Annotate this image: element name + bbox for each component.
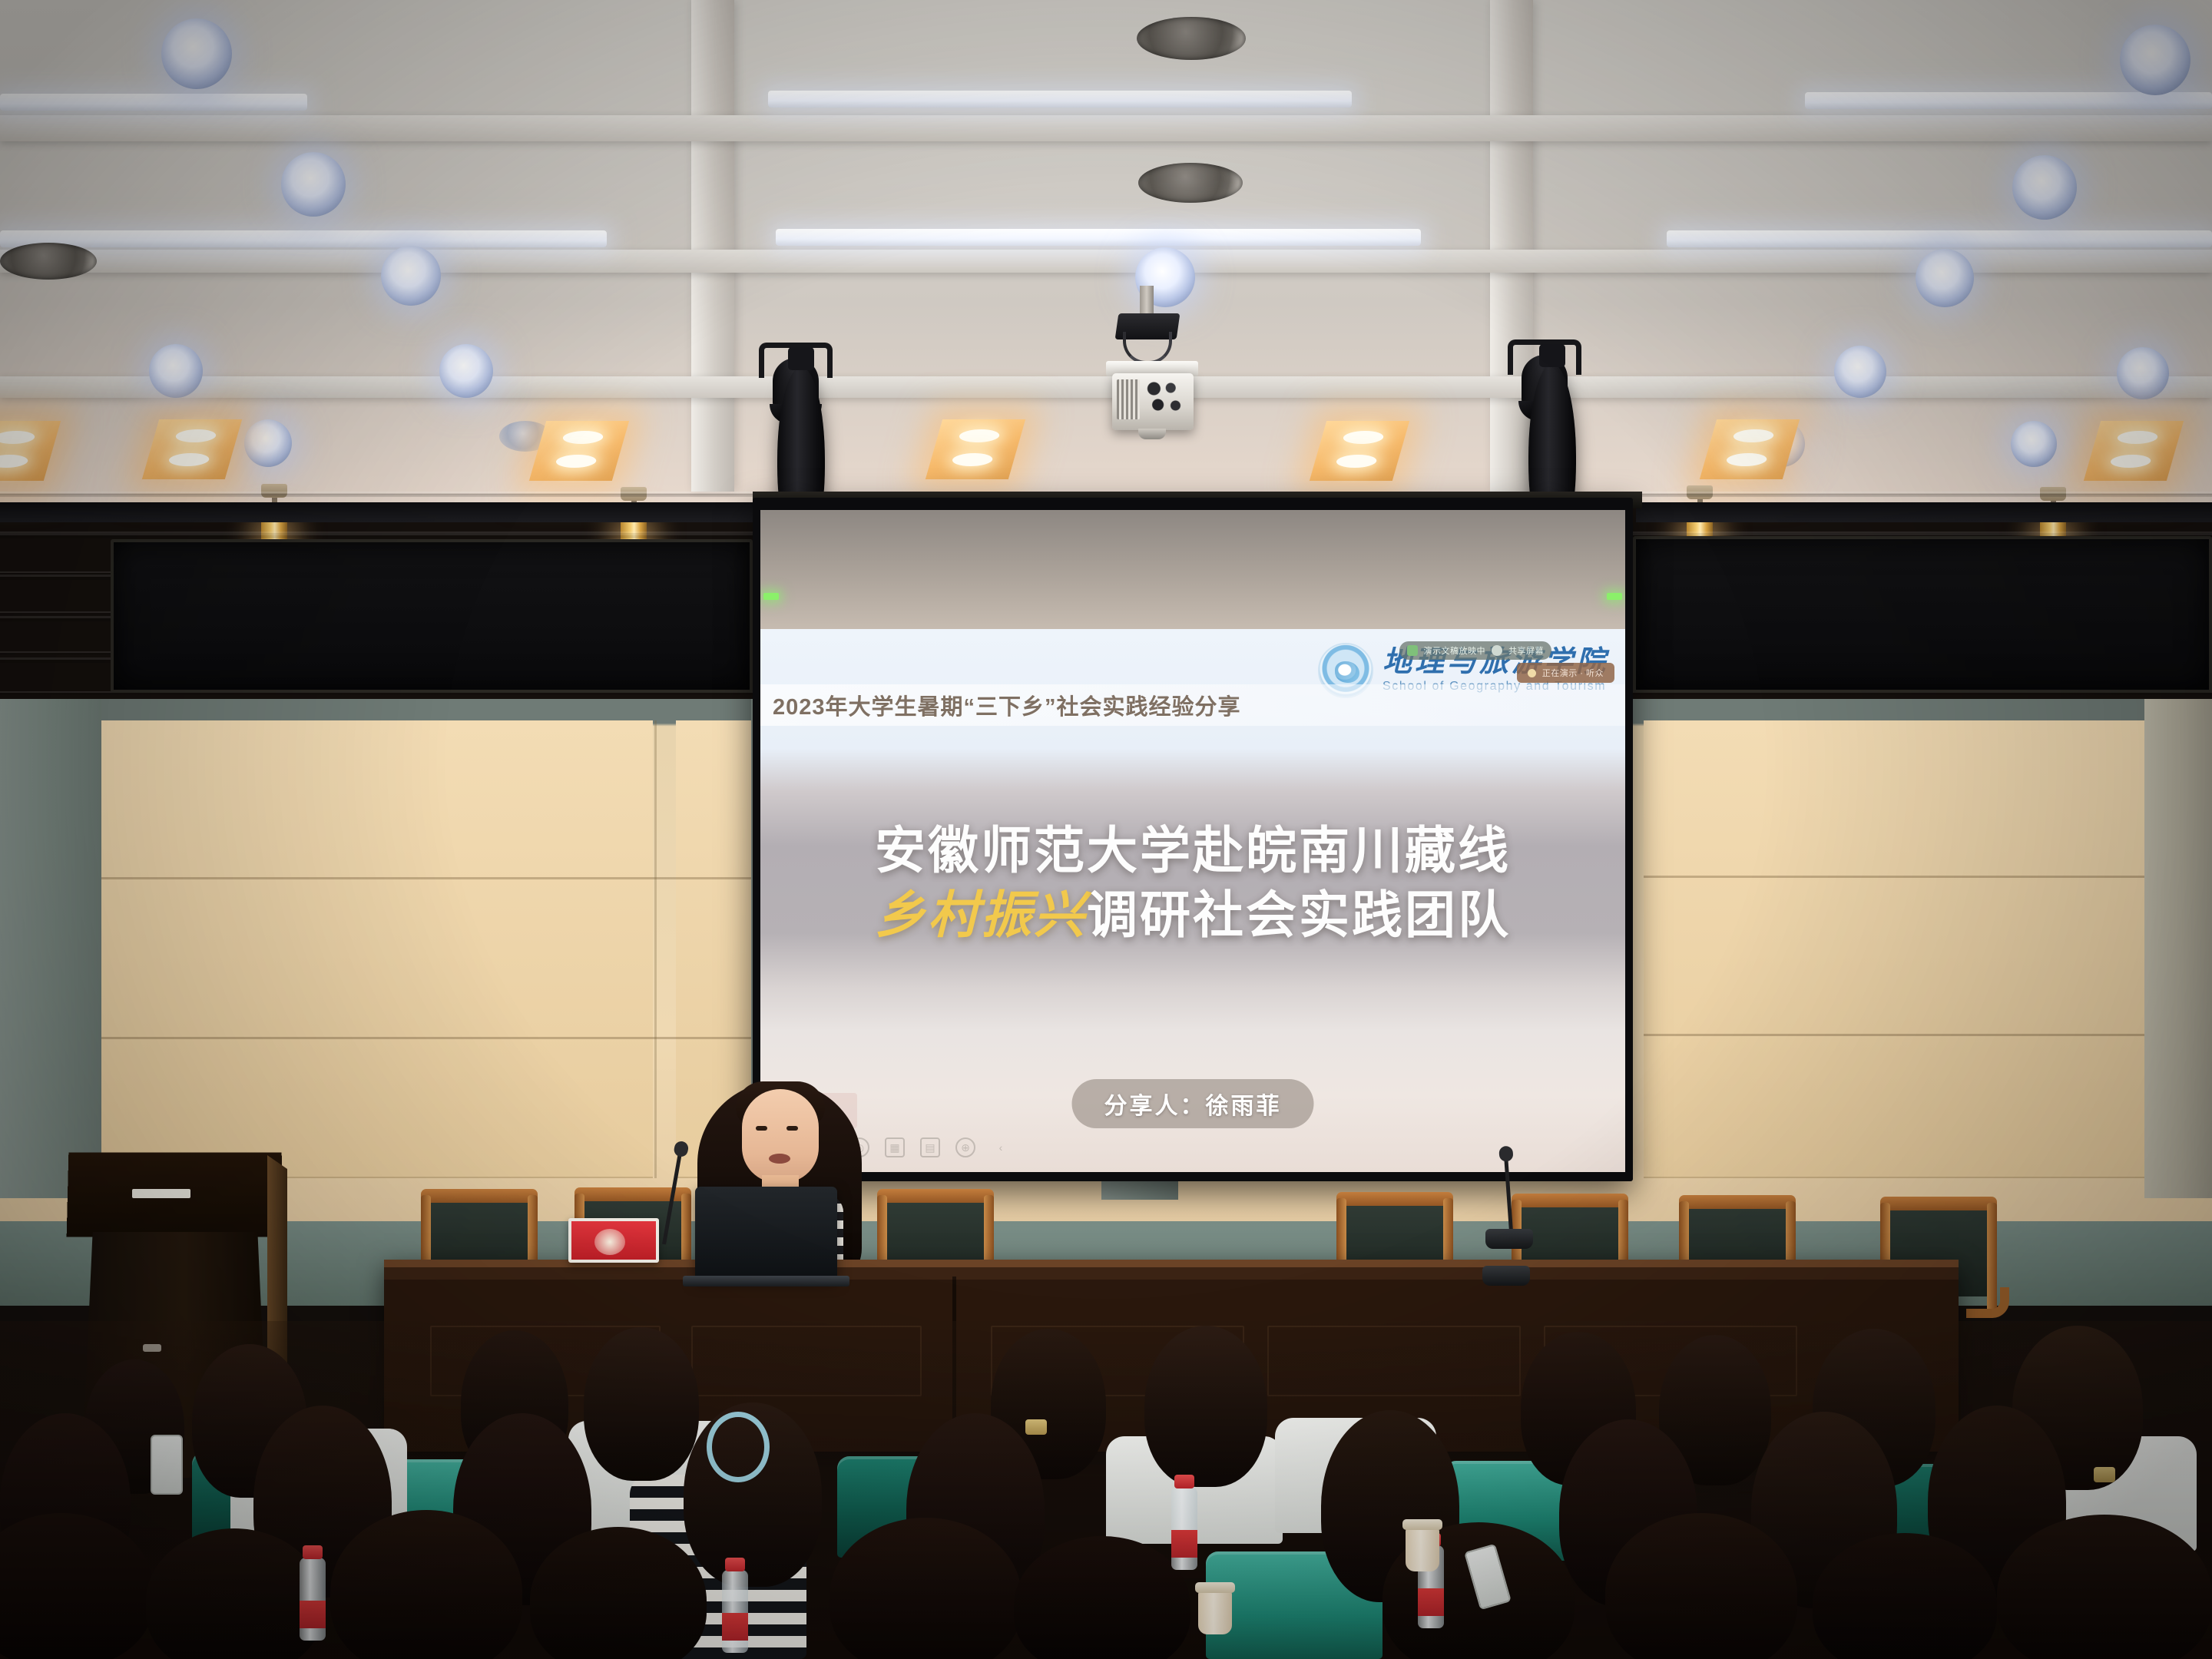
ceiling-projector	[1106, 286, 1204, 443]
linear-fluorescent	[0, 94, 307, 111]
recessed-downlight	[2011, 421, 2057, 467]
paper-cup	[1198, 1590, 1232, 1634]
microphone-base	[1482, 1266, 1530, 1286]
wall-black-panel	[111, 539, 753, 693]
presenter-eye	[756, 1126, 767, 1131]
slide-title-line2: 乡村振兴调研社会实践团队	[760, 882, 1625, 947]
audience-head	[1144, 1326, 1267, 1487]
recessed-downlight	[2120, 25, 2190, 95]
presentation-status-toolbar[interactable]: 演示文稿放映中 共享屏幕	[1399, 641, 1552, 660]
share-icon	[1492, 645, 1502, 656]
recessed-downlight	[1916, 249, 1974, 307]
screen-edge-led	[1607, 593, 1622, 600]
ceiling	[0, 0, 2212, 507]
audience-head	[0, 1513, 154, 1659]
hair-clip	[2094, 1467, 2115, 1482]
recessed-downlight	[2012, 155, 2077, 220]
water-bottle	[300, 1558, 326, 1641]
ceiling-vent	[1137, 17, 1246, 60]
recessed-downlight	[439, 344, 493, 398]
paper-cup	[1406, 1527, 1439, 1571]
presenter-eye	[786, 1126, 798, 1131]
linear-fluorescent	[768, 91, 1352, 108]
linear-fluorescent	[0, 230, 607, 247]
water-bottle	[1171, 1487, 1197, 1570]
smartphone[interactable]	[151, 1435, 183, 1495]
presenting-label: 正在演示 · 听众	[1542, 667, 1604, 679]
lecture-hall-photo: 地理与旅游学院 School of Geography and Tourism …	[0, 0, 2212, 1659]
recessed-downlight	[149, 344, 203, 398]
slide-title-block: 安徽师范大学赴皖南川藏线 乡村振兴调研社会实践团队	[760, 818, 1625, 948]
ceiling-vent	[1138, 163, 1243, 203]
presenter-mouth	[769, 1154, 790, 1164]
presenter-badge: 分享人：徐雨菲	[1072, 1079, 1314, 1128]
record-dot-icon	[1528, 669, 1536, 677]
recessed-downlight	[281, 152, 346, 217]
toolbar-label-right: 共享屏幕	[1508, 644, 1544, 657]
ceiling-vent	[0, 243, 97, 280]
ceiling-beam-vertical	[691, 0, 734, 492]
wall-black-panel	[1633, 536, 2212, 693]
panel-seam	[1644, 1034, 2212, 1036]
laptop[interactable]	[695, 1187, 837, 1279]
wall-pillar	[2144, 699, 2212, 1198]
hair-tie	[707, 1412, 770, 1482]
panel-seam	[1644, 876, 2212, 878]
wall-black-band	[1636, 502, 2212, 522]
recessed-downlight	[161, 18, 232, 89]
presenting-indicator[interactable]: 正在演示 · 听众	[1517, 663, 1614, 683]
toolbar-label-left: 演示文稿放映中	[1424, 644, 1486, 657]
projection-screen[interactable]: 地理与旅游学院 School of Geography and Tourism …	[760, 510, 1625, 1172]
warm-wall-washer	[2084, 421, 2184, 481]
ceiling-beam-horizontal	[0, 250, 2212, 273]
linear-fluorescent	[776, 229, 1421, 246]
wall-black-band	[0, 502, 753, 522]
recessed-downlight	[1834, 346, 1886, 398]
warm-wall-washer	[926, 419, 1025, 479]
hair-clip	[1025, 1419, 1047, 1435]
slides-grid-icon[interactable]: ▦	[885, 1137, 905, 1157]
recessed-downlight	[244, 419, 292, 467]
ceiling-beam-horizontal	[0, 115, 2212, 141]
warm-wall-washer	[142, 419, 242, 479]
audience-area	[0, 1321, 2212, 1659]
slide-header-text: 2023年大学生暑期“三下乡”社会实践经验分享	[773, 689, 1556, 721]
linear-fluorescent	[1667, 230, 2212, 247]
screen-edge-led	[763, 593, 779, 600]
microphone-base	[1485, 1229, 1533, 1249]
recessed-downlight	[381, 246, 441, 306]
recessed-downlight	[2117, 347, 2169, 399]
lectern-paper	[132, 1189, 190, 1198]
notes-icon[interactable]: ▤	[920, 1137, 940, 1157]
audience-head	[584, 1327, 699, 1481]
ceiling-beam-vertical	[1490, 0, 1533, 492]
zoom-icon[interactable]: ⊕	[955, 1137, 975, 1157]
audience-head	[1014, 1536, 1190, 1659]
wall-panel	[1644, 720, 2151, 1178]
warm-wall-washer	[1700, 419, 1800, 479]
screen-unused-area	[760, 510, 1625, 633]
name-card	[568, 1218, 659, 1263]
presenter-face	[742, 1089, 819, 1183]
wall-panel	[100, 720, 653, 1178]
water-bottle	[722, 1570, 748, 1653]
more-icon[interactable]: ‹	[991, 1137, 1011, 1157]
slide-title-line1: 安徽师范大学赴皖南川藏线	[760, 818, 1625, 882]
panel-seam	[654, 720, 657, 1178]
presentation-slide: 地理与旅游学院 School of Geography and Tourism …	[760, 629, 1625, 1172]
warm-wall-washer	[529, 421, 629, 481]
wall-pillar	[0, 699, 101, 1198]
slide-title-rest: 调研社会实践团队	[1087, 886, 1511, 943]
slide-title-highlight: 乡村振兴	[875, 886, 1087, 943]
warm-wall-washer	[1310, 421, 1409, 481]
signal-icon	[1407, 645, 1418, 656]
